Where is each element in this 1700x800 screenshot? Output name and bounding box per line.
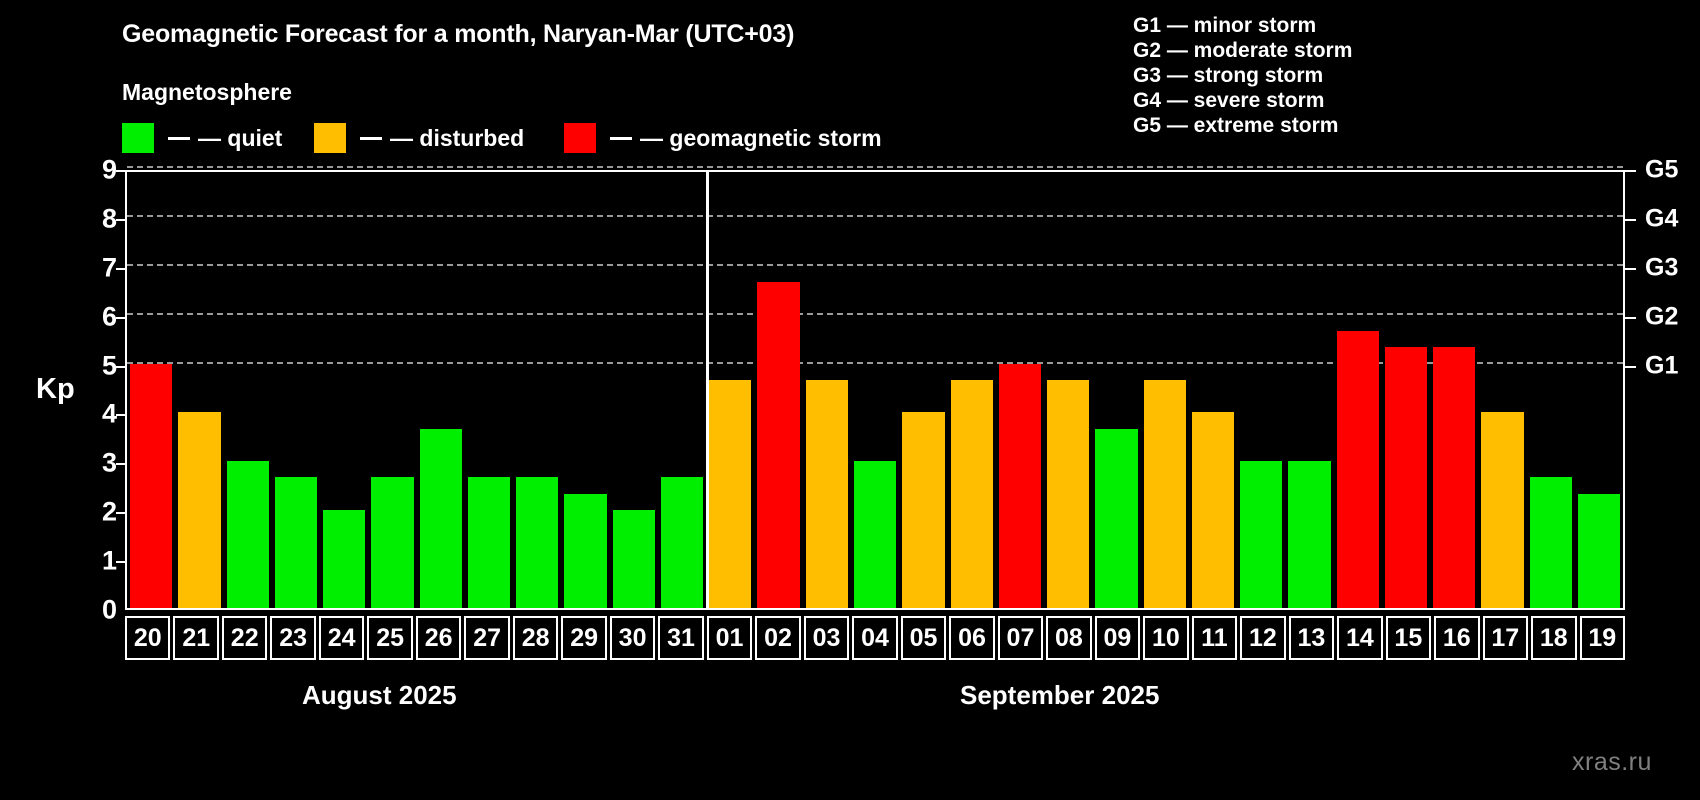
bar-storm[interactable] bbox=[1385, 347, 1427, 608]
date-cell[interactable]: 23 bbox=[270, 616, 315, 660]
y-tick-label-8: 8 bbox=[57, 203, 117, 234]
bar-quiet[interactable] bbox=[613, 510, 655, 608]
month-caption-september: September 2025 bbox=[960, 680, 1159, 711]
g-scale-row-g2: G2 — moderate storm bbox=[1133, 38, 1352, 63]
g-tick-label-g4: G4 bbox=[1645, 204, 1700, 233]
bar-storm[interactable] bbox=[1337, 331, 1379, 608]
bar-slot bbox=[948, 172, 996, 608]
y-tick-mark bbox=[116, 561, 125, 563]
y-tick-mark bbox=[116, 414, 125, 416]
bar-quiet[interactable] bbox=[854, 461, 896, 608]
quiet-swatch-icon bbox=[122, 123, 154, 153]
bar-slot bbox=[368, 172, 416, 608]
bar-slot bbox=[1575, 172, 1623, 608]
bar-disturbed[interactable] bbox=[178, 412, 220, 608]
g-tick-label-g5: G5 bbox=[1645, 156, 1700, 185]
bar-storm[interactable] bbox=[757, 282, 799, 608]
geomagnetic-forecast-chart: Geomagnetic Forecast for a month, Naryan… bbox=[0, 0, 1700, 800]
bar-quiet[interactable] bbox=[275, 477, 317, 608]
y-tick-label-5: 5 bbox=[57, 350, 117, 381]
page-title: Geomagnetic Forecast for a month, Naryan… bbox=[122, 20, 794, 49]
g-scale-row-g4: G4 — severe storm bbox=[1133, 88, 1352, 113]
bar-quiet[interactable] bbox=[661, 477, 703, 608]
bar-slot bbox=[465, 172, 513, 608]
g-tick-mark bbox=[1625, 268, 1636, 270]
bar-quiet[interactable] bbox=[420, 429, 462, 608]
bar-slot bbox=[224, 172, 272, 608]
legend-label-disturbed: — disturbed bbox=[390, 125, 524, 152]
bar-slot bbox=[1092, 172, 1140, 608]
y-tick-mark bbox=[116, 512, 125, 514]
bar-quiet[interactable] bbox=[1530, 477, 1572, 608]
bar-slot bbox=[272, 172, 320, 608]
y-tick-mark bbox=[116, 268, 125, 270]
month-caption-august: August 2025 bbox=[302, 680, 457, 711]
month-divider bbox=[706, 170, 709, 610]
y-tick-mark bbox=[116, 463, 125, 465]
plot-area bbox=[125, 170, 1625, 610]
bar-slot bbox=[320, 172, 368, 608]
bar-slot bbox=[1430, 172, 1478, 608]
date-cell[interactable]: 25 bbox=[367, 616, 412, 660]
g-tick-label-g3: G3 bbox=[1645, 253, 1700, 282]
g-tick-label-g1: G1 bbox=[1645, 351, 1700, 380]
date-cell[interactable]: 08 bbox=[1046, 616, 1091, 660]
date-cell[interactable]: 02 bbox=[755, 616, 800, 660]
legend-dash-icon bbox=[610, 137, 632, 140]
watermark: xras.ru bbox=[1572, 748, 1652, 777]
bar-slot bbox=[754, 172, 802, 608]
date-cell[interactable]: 31 bbox=[658, 616, 703, 660]
bar-disturbed[interactable] bbox=[1144, 380, 1186, 608]
bar-slot bbox=[996, 172, 1044, 608]
bar-quiet[interactable] bbox=[1288, 461, 1330, 608]
g-tick-mark bbox=[1625, 219, 1636, 221]
bar-slot bbox=[175, 172, 223, 608]
date-cell[interactable]: 07 bbox=[998, 616, 1043, 660]
date-cell[interactable]: 28 bbox=[513, 616, 558, 660]
legend-dash-icon bbox=[360, 137, 382, 140]
date-cell[interactable]: 01 bbox=[707, 616, 752, 660]
g-scale-row-g5: G5 — extreme storm bbox=[1133, 113, 1352, 138]
date-cell[interactable]: 26 bbox=[416, 616, 461, 660]
bar-slot bbox=[1285, 172, 1333, 608]
date-cell[interactable]: 14 bbox=[1337, 616, 1382, 660]
date-cell[interactable]: 20 bbox=[125, 616, 170, 660]
bar-quiet[interactable] bbox=[227, 461, 269, 608]
date-cell[interactable]: 05 bbox=[901, 616, 946, 660]
bar-storm[interactable] bbox=[999, 364, 1041, 608]
y-tick-mark bbox=[116, 219, 125, 221]
bar-slot bbox=[610, 172, 658, 608]
y-tick-mark bbox=[116, 170, 125, 172]
bar-slot bbox=[513, 172, 561, 608]
bar-slot bbox=[417, 172, 465, 608]
bar-slot bbox=[1334, 172, 1382, 608]
y-tick-mark bbox=[116, 366, 125, 368]
bar-disturbed[interactable] bbox=[1047, 380, 1089, 608]
date-cell[interactable]: 04 bbox=[852, 616, 897, 660]
bar-slot bbox=[1044, 172, 1092, 608]
date-cell[interactable]: 17 bbox=[1483, 616, 1528, 660]
date-cell[interactable]: 30 bbox=[610, 616, 655, 660]
bar-storm[interactable] bbox=[1433, 347, 1475, 608]
bar-series bbox=[127, 172, 1623, 608]
bar-slot bbox=[658, 172, 706, 608]
date-cell[interactable]: 29 bbox=[561, 616, 606, 660]
bar-quiet[interactable] bbox=[371, 477, 413, 608]
bar-slot bbox=[1478, 172, 1526, 608]
bar-slot bbox=[1237, 172, 1285, 608]
bar-quiet[interactable] bbox=[1240, 461, 1282, 608]
date-cell[interactable]: 27 bbox=[464, 616, 509, 660]
bar-disturbed[interactable] bbox=[806, 380, 848, 608]
bar-slot bbox=[1141, 172, 1189, 608]
date-cell[interactable]: 19 bbox=[1580, 616, 1625, 660]
bar-slot bbox=[851, 172, 899, 608]
bar-slot bbox=[803, 172, 851, 608]
bar-quiet[interactable] bbox=[1578, 494, 1620, 608]
bar-disturbed[interactable] bbox=[709, 380, 751, 608]
bar-slot bbox=[899, 172, 947, 608]
legend-dash-icon bbox=[168, 137, 190, 140]
bar-slot bbox=[1527, 172, 1575, 608]
legend-item-disturbed: — disturbed bbox=[314, 122, 524, 154]
bar-storm[interactable] bbox=[130, 364, 172, 608]
bar-quiet[interactable] bbox=[468, 477, 510, 608]
y-tick-mark bbox=[116, 317, 125, 319]
bar-quiet[interactable] bbox=[323, 510, 365, 608]
legend-item-storm: — geomagnetic storm bbox=[564, 122, 882, 154]
g-tick-mark bbox=[1625, 366, 1636, 368]
storm-swatch-icon bbox=[564, 123, 596, 153]
disturbed-swatch-icon bbox=[314, 123, 346, 153]
date-cell[interactable]: 12 bbox=[1240, 616, 1285, 660]
date-cell[interactable]: 16 bbox=[1434, 616, 1479, 660]
date-cell[interactable]: 09 bbox=[1095, 616, 1140, 660]
date-cell[interactable]: 06 bbox=[949, 616, 994, 660]
bar-slot bbox=[1189, 172, 1237, 608]
bar-disturbed[interactable] bbox=[1481, 412, 1523, 608]
date-cell[interactable]: 11 bbox=[1192, 616, 1237, 660]
bar-slot bbox=[706, 172, 754, 608]
gridline bbox=[127, 166, 1623, 168]
y-tick-label-4: 4 bbox=[57, 399, 117, 430]
y-tick-label-6: 6 bbox=[57, 301, 117, 332]
y-tick-label-7: 7 bbox=[57, 252, 117, 283]
bar-quiet[interactable] bbox=[516, 477, 558, 608]
bar-disturbed[interactable] bbox=[902, 412, 944, 608]
g-tick-mark bbox=[1625, 170, 1636, 172]
g-tick-mark bbox=[1625, 317, 1636, 319]
y-tick-label-1: 1 bbox=[57, 546, 117, 577]
g-scale-row-g1: G1 — minor storm bbox=[1133, 13, 1352, 38]
date-cell[interactable]: 21 bbox=[173, 616, 218, 660]
y-tick-label-0: 0 bbox=[57, 595, 117, 626]
date-cell[interactable]: 10 bbox=[1143, 616, 1188, 660]
legend-label-storm: — geomagnetic storm bbox=[640, 125, 882, 152]
g-tick-label-g2: G2 bbox=[1645, 302, 1700, 331]
y-tick-label-9: 9 bbox=[57, 155, 117, 186]
bar-quiet[interactable] bbox=[564, 494, 606, 608]
bar-disturbed[interactable] bbox=[1192, 412, 1234, 608]
chart-subtitle: Magnetosphere bbox=[122, 79, 292, 106]
y-tick-label-3: 3 bbox=[57, 448, 117, 479]
legend-label-quiet: — quiet bbox=[198, 125, 282, 152]
bar-slot bbox=[127, 172, 175, 608]
date-cell[interactable]: 24 bbox=[319, 616, 364, 660]
g-scale-legend: G1 — minor storm G2 — moderate storm G3 … bbox=[1133, 13, 1352, 138]
g-scale-row-g3: G3 — strong storm bbox=[1133, 63, 1352, 88]
legend-item-quiet: — quiet bbox=[122, 122, 282, 154]
bar-quiet[interactable] bbox=[1095, 429, 1137, 608]
date-cell[interactable]: 03 bbox=[804, 616, 849, 660]
date-cell[interactable]: 22 bbox=[222, 616, 267, 660]
bar-slot bbox=[561, 172, 609, 608]
bar-disturbed[interactable] bbox=[951, 380, 993, 608]
date-cell[interactable]: 13 bbox=[1289, 616, 1334, 660]
date-cell[interactable]: 18 bbox=[1531, 616, 1576, 660]
bar-slot bbox=[1382, 172, 1430, 608]
date-cell[interactable]: 15 bbox=[1386, 616, 1431, 660]
y-tick-label-2: 2 bbox=[57, 497, 117, 528]
date-axis: 2021222324252627282930310102030405060708… bbox=[125, 616, 1625, 660]
